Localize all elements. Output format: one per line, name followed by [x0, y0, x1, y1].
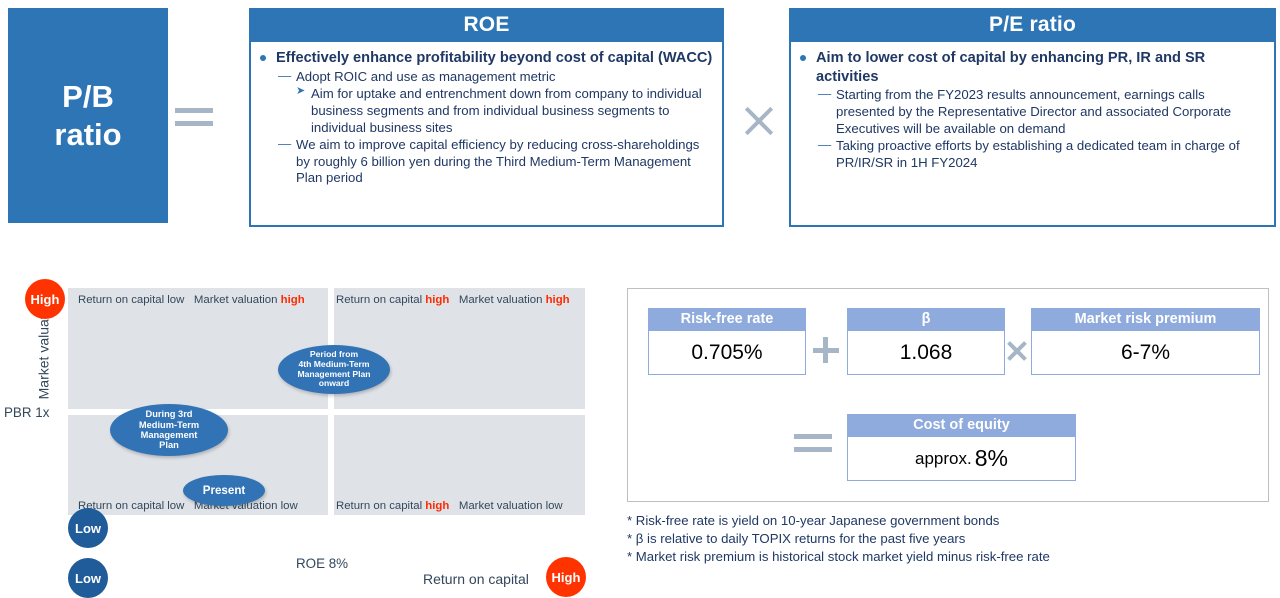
roe-sub-sub-bullet-text: Aim for uptake and entrenchment down fro… [311, 86, 702, 134]
roe-bullet: Effectively enhance profitability beyond… [259, 49, 714, 187]
x-axis-high-badge: High [546, 557, 586, 597]
risk-free-rate-value: 0.705% [648, 331, 806, 375]
bullet-dot-icon [800, 55, 806, 61]
risk-free-rate-box: Risk-free rate 0.705% [648, 308, 806, 375]
dash-icon: — [818, 86, 831, 103]
market-risk-premium-value: 6-7% [1031, 331, 1260, 375]
footnote-item: * Risk-free rate is yield on 10-year Jap… [627, 512, 1267, 530]
chart-point-third-plan: During 3rdMedium-TermManagementPlan [110, 404, 228, 456]
cost-of-equity-value: approx. 8% [847, 437, 1076, 481]
cost-of-equity-prefix: approx. [915, 449, 972, 469]
roe-threshold-label: ROE 8% [296, 556, 348, 571]
pe-bullet: Aim to lower cost of capital by enhancin… [799, 49, 1266, 171]
pe-sub-bullet: — Taking proactive efforts by establishi… [816, 138, 1266, 171]
quadrant-label-bottom-right: Return on capital high Market valuation … [336, 500, 563, 512]
dash-icon: — [818, 137, 831, 154]
footnote-item: * β is relative to daily TOPIX returns f… [627, 530, 1267, 548]
roe-sub-bullet-text: Adopt ROIC and use as management metric [296, 69, 555, 84]
pb-ratio-label: P/Bratio [54, 78, 121, 154]
multiply-icon [741, 103, 777, 139]
quadrant-label-bottom-left: Return on capital low Market valuation l… [78, 500, 298, 512]
cost-of-equity-box: Cost of equity approx. 8% [847, 414, 1076, 481]
beta-value: 1.068 [847, 331, 1005, 375]
roe-sub-bullet-text: We aim to improve capital efficiency by … [296, 137, 699, 185]
pe-sub-bullet-text: Taking proactive efforts by establishing… [836, 138, 1240, 170]
quadrant-label-top-right: Return on capital high Market valuation … [336, 294, 570, 306]
cost-of-equity-panel: Risk-free rate 0.705% β 1.068 Market ris… [627, 288, 1269, 502]
chart-vertical-divider [328, 288, 334, 515]
market-risk-premium-header: Market risk premium [1031, 308, 1260, 331]
pbr-threshold-label: PBR 1x [4, 405, 49, 420]
pe-bullet-text: Aim to lower cost of capital by enhancin… [816, 50, 1205, 85]
cost-of-equity-header: Cost of equity [847, 414, 1076, 437]
pe-sub-bullet-text: Starting from the FY2023 results announc… [836, 87, 1231, 135]
footnote-item: * Market risk premium is historical stoc… [627, 548, 1267, 566]
dash-icon: — [278, 68, 291, 85]
market-risk-premium-box: Market risk premium 6-7% [1031, 308, 1260, 375]
cost-of-equity-number: 8% [975, 445, 1008, 472]
roe-bullet-text: Effectively enhance profitability beyond… [276, 50, 712, 66]
pb-ratio-box: P/Bratio [8, 8, 168, 223]
roe-panel-body: Effectively enhance profitability beyond… [251, 42, 722, 195]
dash-icon: — [278, 136, 291, 153]
plus-icon [813, 337, 839, 363]
chart-plot-area [68, 288, 585, 515]
risk-free-rate-header: Risk-free rate [648, 308, 806, 331]
multiply-icon [1005, 339, 1029, 363]
pe-panel-title: P/E ratio [791, 10, 1274, 42]
y-axis-high-badge: High [25, 279, 65, 319]
x-axis-label: Return on capital [423, 571, 529, 587]
chart-point-present: Present [183, 475, 265, 506]
roe-sub-bullet: — We aim to improve capital efficiency b… [276, 137, 714, 187]
chevron-right-icon: ➤ [296, 85, 305, 99]
roe-sub-sub-bullet: ➤ Aim for uptake and entrenchment down f… [296, 86, 714, 136]
roe-panel-title: ROE [251, 10, 722, 42]
chart-point-fourth-plan: Period from4th Medium-TermManagement Pla… [278, 345, 390, 394]
beta-header: β [847, 308, 1005, 331]
quadrant-label-top-left: Return on capital low Market valuation h… [78, 294, 305, 306]
roe-sub-bullet: — Adopt ROIC and use as management metri… [276, 69, 714, 137]
bullet-dot-icon [260, 55, 266, 61]
equals-icon [175, 108, 213, 126]
beta-box: β 1.068 [847, 308, 1005, 375]
y-axis-low-badge: Low [68, 508, 108, 548]
pe-panel: P/E ratio Aim to lower cost of capital b… [789, 8, 1276, 227]
footnotes: * Risk-free rate is yield on 10-year Jap… [627, 512, 1267, 566]
x-axis-low-badge: Low [68, 558, 108, 598]
quadrant-chart: Return on capital low Market valuation h… [0, 268, 610, 597]
pe-panel-body: Aim to lower cost of capital by enhancin… [791, 42, 1274, 179]
pe-sub-bullet: — Starting from the FY2023 results annou… [816, 87, 1266, 137]
equals-icon [794, 434, 832, 452]
roe-panel: ROE Effectively enhance profitability be… [249, 8, 724, 227]
